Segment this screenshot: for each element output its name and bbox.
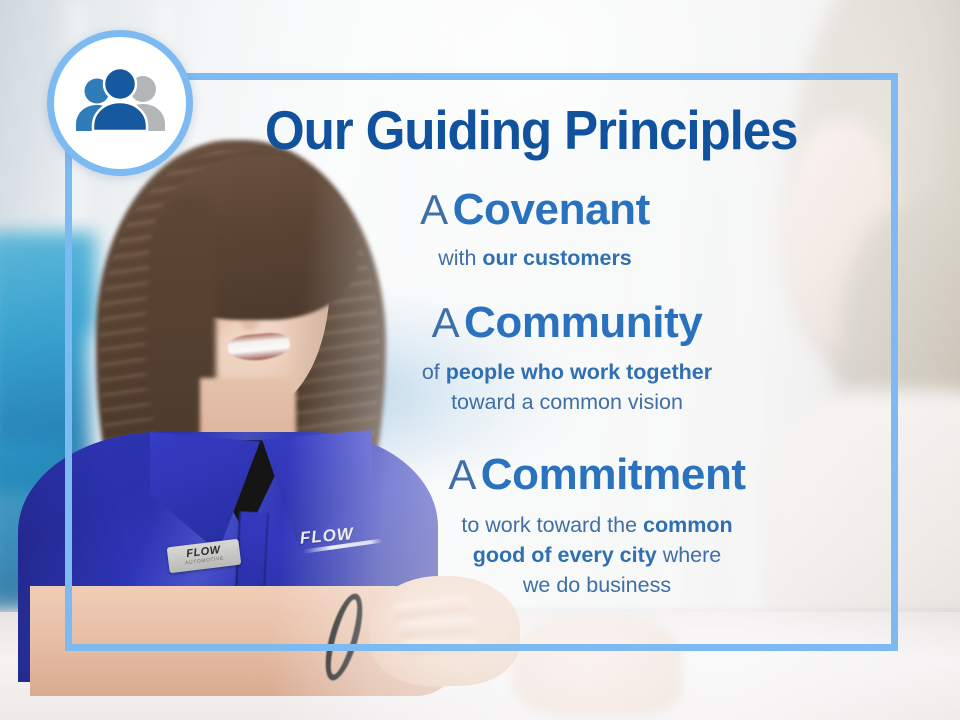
principle-subtext-line: to work toward the common bbox=[318, 510, 876, 540]
principle-plain-text: we do business bbox=[523, 573, 671, 597]
principle-emphasis: good of every city bbox=[473, 543, 657, 567]
principle-subtext-line: with our customers bbox=[194, 243, 876, 273]
principle-subtext: with our customers bbox=[194, 243, 876, 273]
principle-plain-text: where bbox=[657, 543, 722, 567]
principle-emphasis: people who work together bbox=[446, 360, 712, 384]
principle-subtext: to work toward the commongood of every c… bbox=[318, 510, 876, 600]
principle-heading: A Community bbox=[258, 299, 876, 347]
principle-item: A Communityof people who work togetherto… bbox=[258, 299, 876, 418]
principle-plain-text: toward a common vision bbox=[451, 390, 683, 414]
principle-subtext-line: we do business bbox=[318, 570, 876, 600]
page-title: Our Guiding Principles bbox=[34, 98, 927, 162]
principle-article: A bbox=[432, 299, 460, 346]
principle-keyword: Community bbox=[464, 298, 702, 347]
principle-emphasis: our customers bbox=[482, 246, 631, 270]
principle-plain-text: of bbox=[422, 360, 446, 384]
guiding-principles-poster: FLOW AUTOMOTIVE FLOW Our Guid bbox=[0, 0, 960, 720]
principle-subtext-line: good of every city where bbox=[318, 540, 876, 570]
principle-subtext-line: of people who work together bbox=[258, 357, 876, 387]
principle-subtext: of people who work togethertoward a comm… bbox=[258, 357, 876, 417]
principle-article: A bbox=[420, 186, 448, 233]
principle-heading: A Covenant bbox=[194, 186, 876, 234]
principle-article: A bbox=[448, 451, 476, 498]
principle-keyword: Covenant bbox=[453, 185, 650, 234]
principles-list: A Covenantwith our customersA Communityo… bbox=[200, 186, 876, 604]
principle-keyword: Commitment bbox=[481, 450, 746, 499]
principle-plain-text: to work toward the bbox=[461, 513, 643, 537]
principle-subtext-line: toward a common vision bbox=[258, 387, 876, 417]
principle-item: A Commitmentto work toward the commongoo… bbox=[318, 451, 876, 600]
principle-heading: A Commitment bbox=[318, 451, 876, 499]
principle-item: A Covenantwith our customers bbox=[194, 186, 876, 273]
principle-plain-text: with bbox=[438, 246, 482, 270]
principle-emphasis: common bbox=[643, 513, 733, 537]
